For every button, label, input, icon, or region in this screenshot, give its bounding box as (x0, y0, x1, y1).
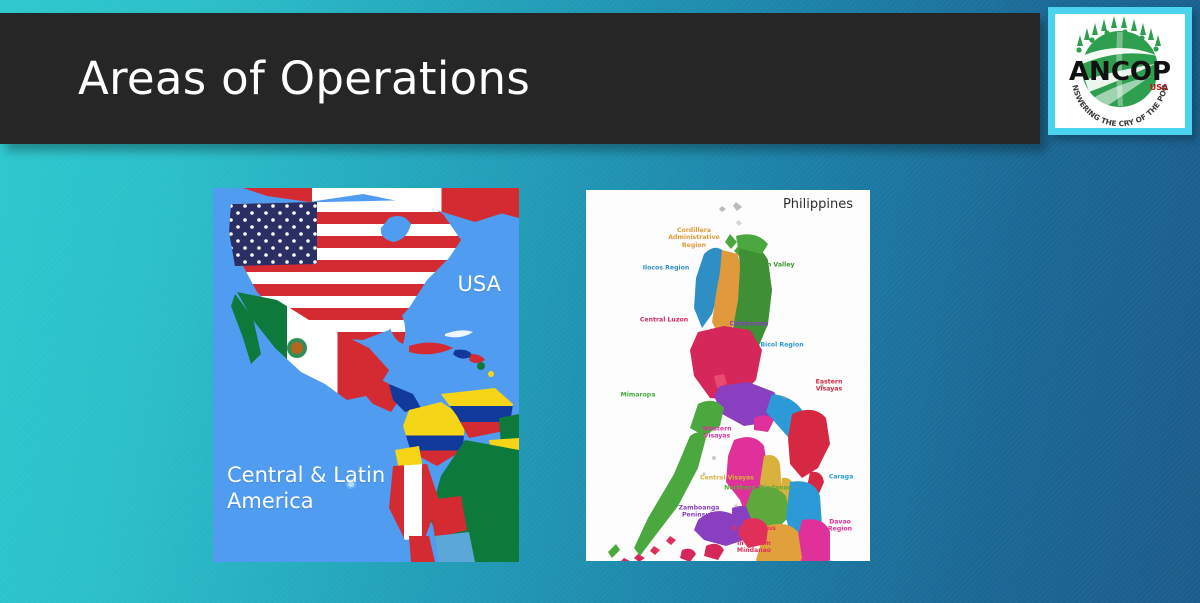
americas-map-image: USA Central & Latin America (213, 188, 519, 562)
philippines-map-title: Philippines (783, 197, 853, 212)
philippines-map-image: Philippines Cordillera Administrative Re… (586, 190, 870, 561)
map-label-usa: USA (458, 271, 501, 297)
ancop-logo: ANCOP USA ANSWERING THE CRY OF THE POOR (1055, 14, 1185, 128)
slide-canvas: Areas of Operations (0, 0, 1200, 603)
map-label-central-latin-america: Central & Latin America (227, 462, 385, 514)
ancop-logo-icon: ANCOP USA ANSWERING THE CRY OF THE POOR (1055, 14, 1185, 128)
page-title: Areas of Operations (78, 52, 530, 105)
title-banner: Areas of Operations (0, 13, 1040, 144)
philippines-map-graphic (586, 190, 870, 561)
ancop-logo-frame: ANCOP USA ANSWERING THE CRY OF THE POOR (1048, 7, 1192, 135)
